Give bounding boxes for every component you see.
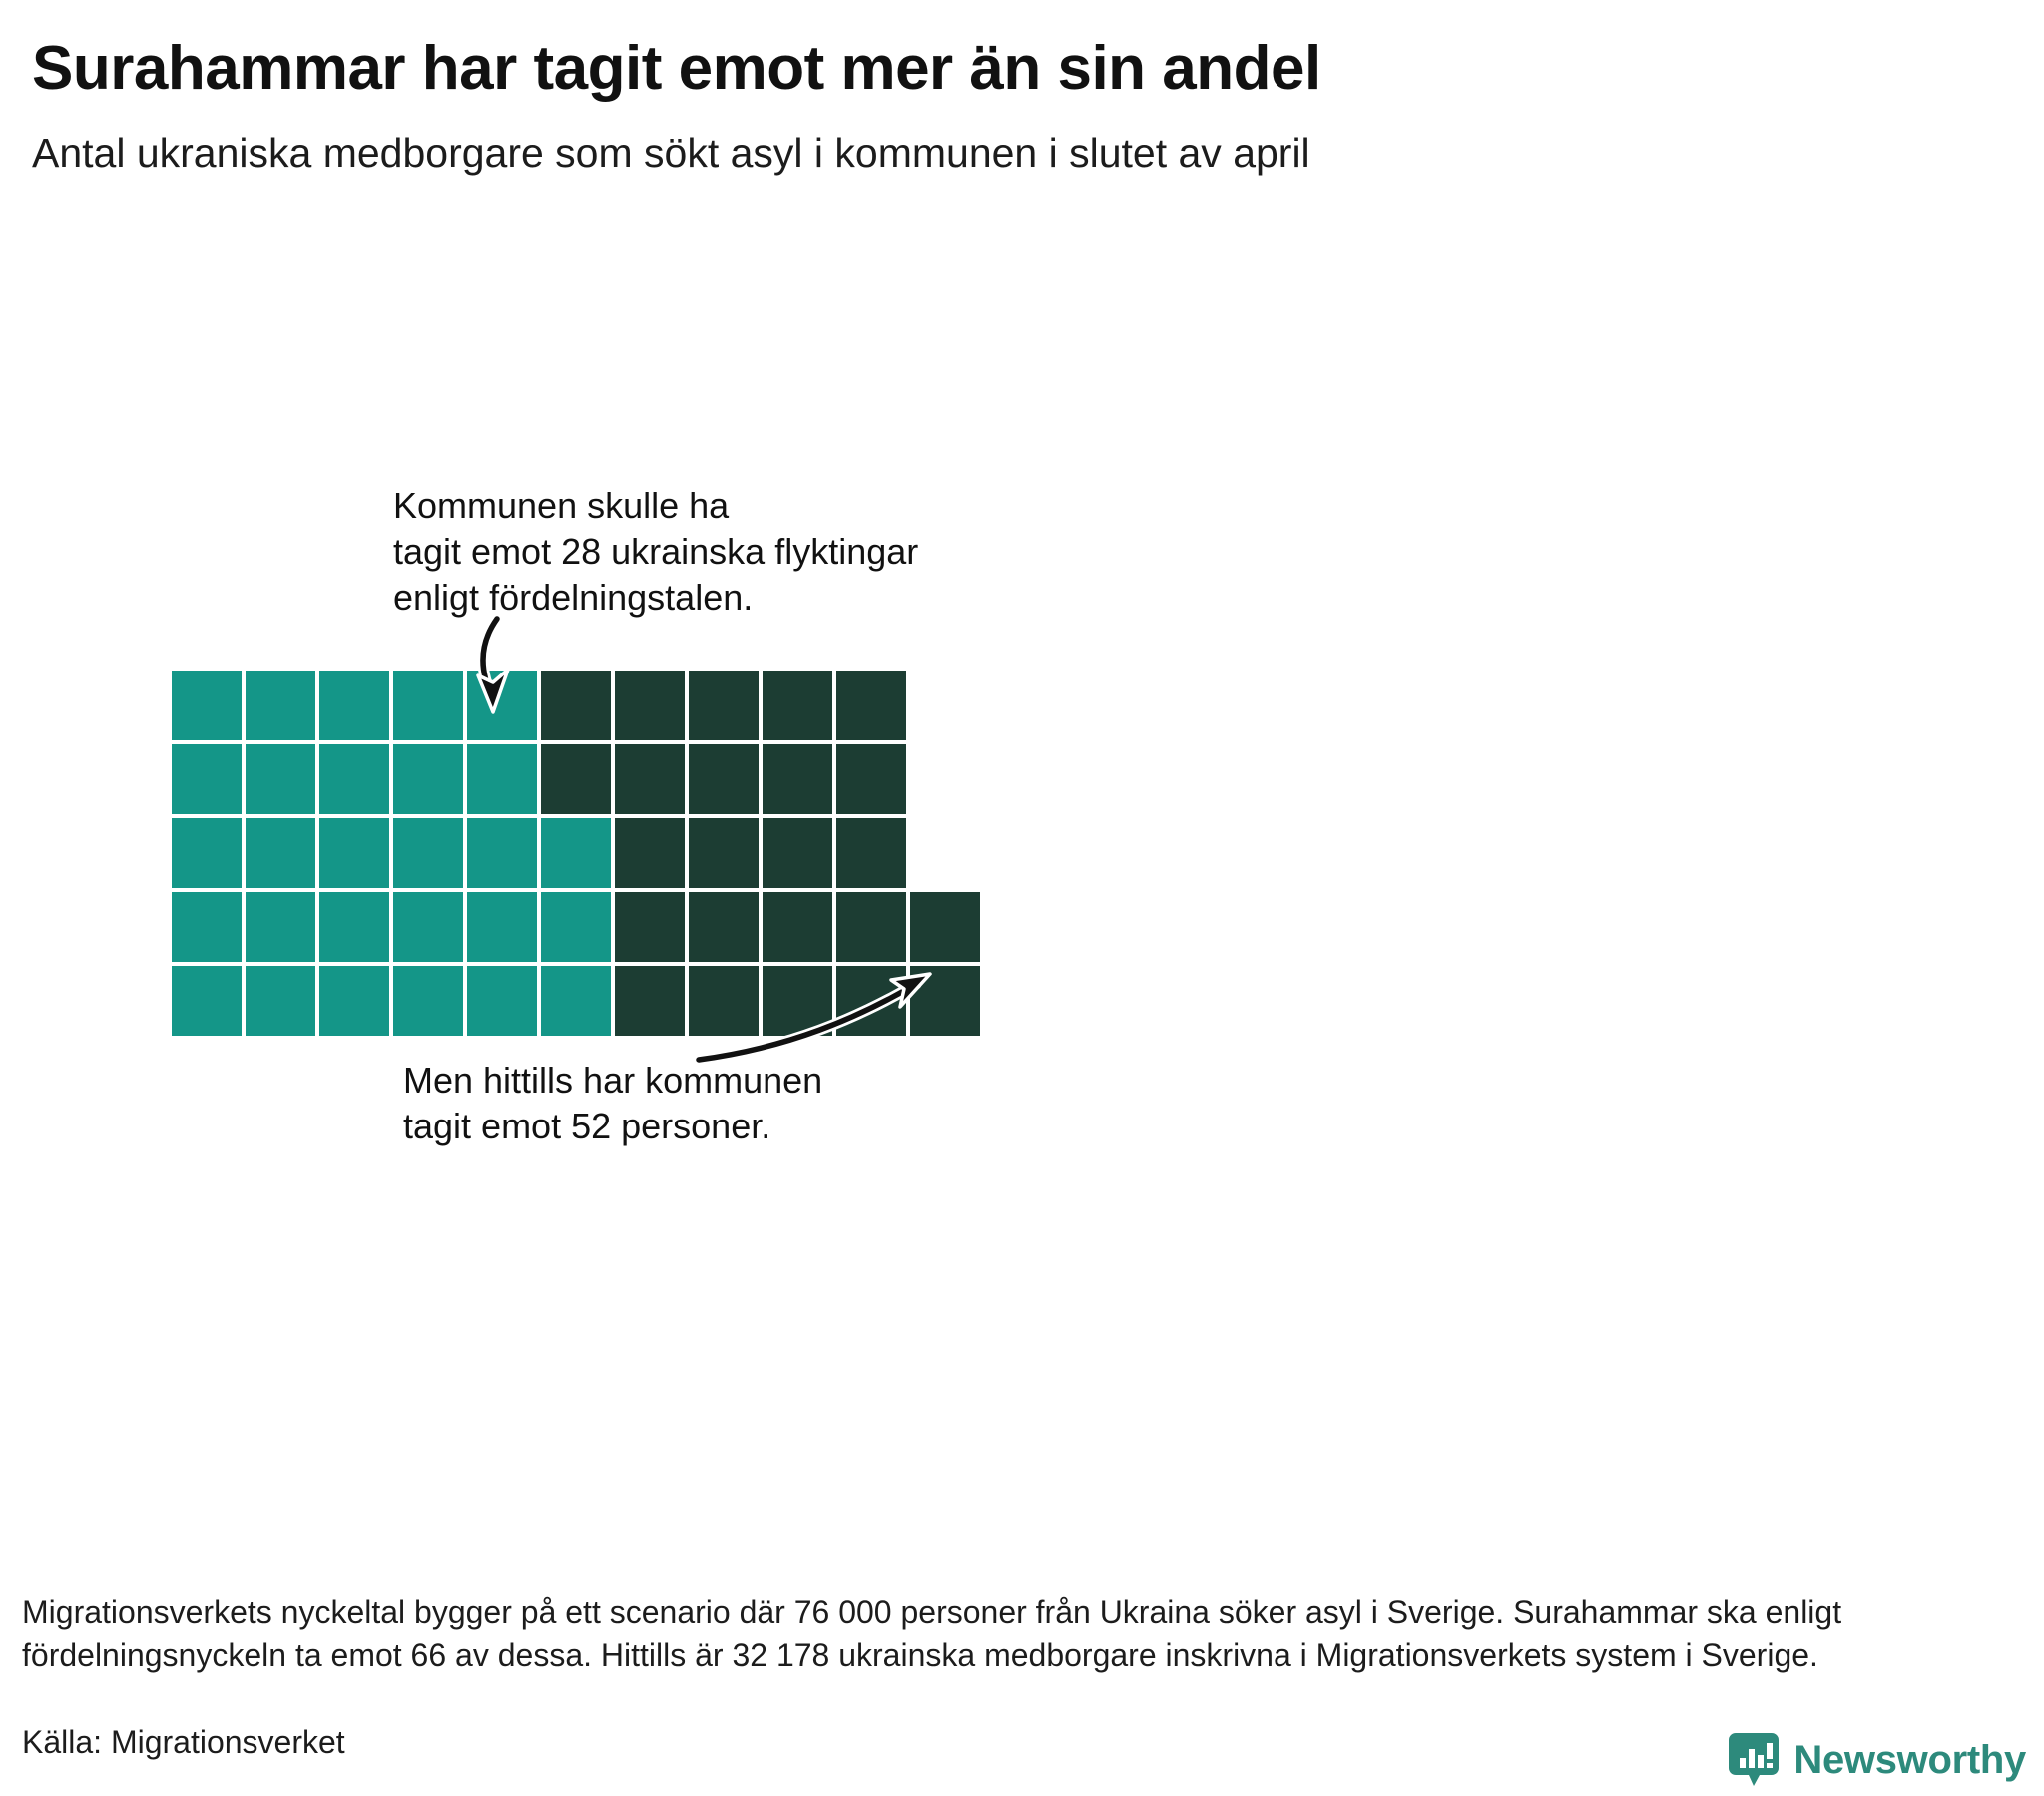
annotation-expected: Kommunen skulle ha tagit emot 28 ukrains… <box>393 483 918 621</box>
waffle-cell-expected[interactable] <box>467 892 537 962</box>
waffle-cell-actual[interactable] <box>836 744 906 814</box>
waffle-cell-expected[interactable] <box>172 966 242 1036</box>
waffle-row <box>172 671 984 744</box>
waffle-cell-expected[interactable] <box>246 744 315 814</box>
waffle-cell-expected[interactable] <box>467 744 537 814</box>
waffle-cell-expected[interactable] <box>467 966 537 1036</box>
chart-plot-area: Kommunen skulle ha tagit emot 28 ukrains… <box>0 0 2044 1796</box>
waffle-cell-actual[interactable] <box>615 671 685 740</box>
waffle-cell-expected[interactable] <box>393 671 463 740</box>
chart-header: Surahammar har tagit emot mer än sin and… <box>32 36 2012 178</box>
waffle-cell-expected[interactable] <box>319 671 389 740</box>
waffle-cell-actual[interactable] <box>763 966 832 1036</box>
waffle-cell-expected[interactable] <box>172 744 242 814</box>
waffle-cell-actual[interactable] <box>615 744 685 814</box>
waffle-cell-expected[interactable] <box>541 966 611 1036</box>
waffle-cell-expected[interactable] <box>541 892 611 962</box>
waffle-cell-expected[interactable] <box>393 818 463 888</box>
waffle-cell-expected[interactable] <box>172 671 242 740</box>
waffle-cell-actual[interactable] <box>541 671 611 740</box>
chart-subtitle: Antal ukraniska medborgare som sökt asyl… <box>32 101 2012 178</box>
waffle-cell-actual[interactable] <box>910 892 980 962</box>
waffle-cell-actual[interactable] <box>763 892 832 962</box>
waffle-cell-actual[interactable] <box>836 892 906 962</box>
waffle-cell-actual[interactable] <box>836 818 906 888</box>
waffle-cell-expected[interactable] <box>246 892 315 962</box>
waffle-cell-expected[interactable] <box>319 818 389 888</box>
waffle-cell-expected[interactable] <box>319 892 389 962</box>
waffle-cell-expected[interactable] <box>393 966 463 1036</box>
waffle-cell-actual[interactable] <box>615 818 685 888</box>
waffle-cell-actual[interactable] <box>910 966 980 1036</box>
waffle-cell-actual[interactable] <box>689 892 759 962</box>
waffle-cell-actual[interactable] <box>615 892 685 962</box>
waffle-cell-expected[interactable] <box>246 671 315 740</box>
waffle-cell-actual[interactable] <box>763 818 832 888</box>
waffle-cell-expected[interactable] <box>246 818 315 888</box>
waffle-cell-expected[interactable] <box>393 892 463 962</box>
waffle-cell-actual[interactable] <box>689 818 759 888</box>
waffle-grid <box>172 671 984 1040</box>
waffle-cell-actual[interactable] <box>689 966 759 1036</box>
waffle-cell-expected[interactable] <box>393 744 463 814</box>
waffle-cell-expected[interactable] <box>467 818 537 888</box>
waffle-cell-expected[interactable] <box>172 818 242 888</box>
waffle-cell-actual[interactable] <box>689 744 759 814</box>
newsworthy-logo[interactable]: Newsworthy <box>1728 1732 2026 1788</box>
waffle-cell-actual[interactable] <box>836 671 906 740</box>
waffle-cell-expected[interactable] <box>319 744 389 814</box>
newsworthy-bubble-icon <box>1728 1732 1780 1788</box>
waffle-cell-actual[interactable] <box>763 671 832 740</box>
waffle-cell-expected[interactable] <box>467 671 537 740</box>
waffle-row <box>172 966 984 1040</box>
annotation-actual: Men hittills har kommunen tagit emot 52 … <box>403 1058 822 1149</box>
waffle-cell-actual[interactable] <box>615 966 685 1036</box>
waffle-cell-expected[interactable] <box>172 892 242 962</box>
waffle-cell-expected[interactable] <box>319 966 389 1036</box>
waffle-row <box>172 744 984 818</box>
footnote-text: Migrationsverkets nyckeltal bygger på et… <box>22 1591 2028 1676</box>
page-title: Surahammar har tagit emot mer än sin and… <box>32 36 2012 101</box>
waffle-cell-actual[interactable] <box>541 744 611 814</box>
waffle-cell-actual[interactable] <box>763 744 832 814</box>
waffle-cell-actual[interactable] <box>689 671 759 740</box>
waffle-row <box>172 818 984 892</box>
waffle-cell-actual[interactable] <box>836 966 906 1036</box>
waffle-row <box>172 892 984 966</box>
brand-name: Newsworthy <box>1793 1738 2026 1783</box>
waffle-cell-expected[interactable] <box>541 818 611 888</box>
waffle-cell-expected[interactable] <box>246 966 315 1036</box>
